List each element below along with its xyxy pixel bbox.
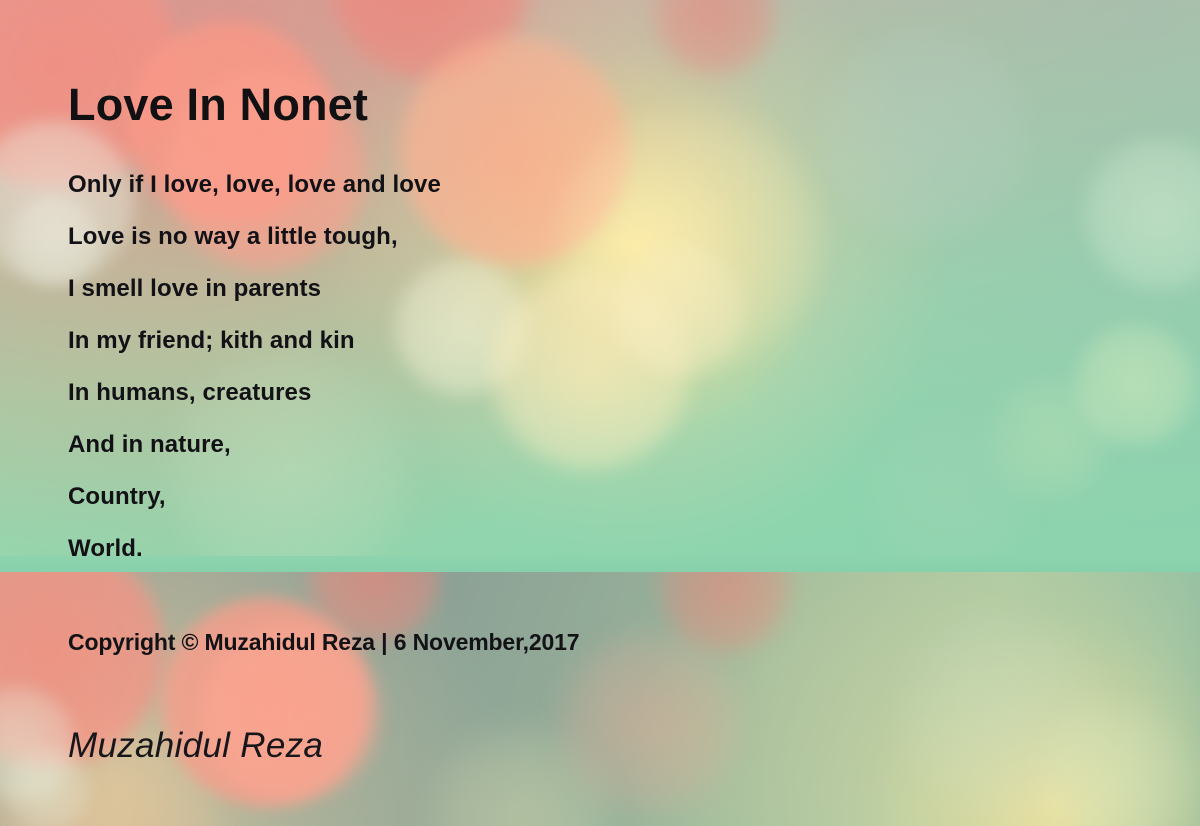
copyright-notice: Copyright © Muzahidul Reza | 6 November,… <box>68 629 579 656</box>
poem-line: In my friend; kith and kin <box>68 315 1128 367</box>
poem-line: Only if I love, love, love and love <box>68 159 1128 211</box>
poem-card: Love In Nonet Only if I love, love, love… <box>0 0 1200 826</box>
content-layer: Love In Nonet Only if I love, love, love… <box>0 0 1200 826</box>
poem-body: Only if I love, love, love and love Love… <box>68 159 1128 575</box>
poem-line: In humans, creatures <box>68 367 1128 419</box>
poem-line: Country, <box>68 471 1128 523</box>
poem-line: World. <box>68 523 1128 575</box>
poem-line: Love is no way a little tough, <box>68 211 1128 263</box>
page-title: Love In Nonet <box>68 82 368 127</box>
poem-line: I smell love in parents <box>68 263 1128 315</box>
poem-line: And in nature, <box>68 419 1128 471</box>
author-signature: Muzahidul Reza <box>68 726 323 766</box>
